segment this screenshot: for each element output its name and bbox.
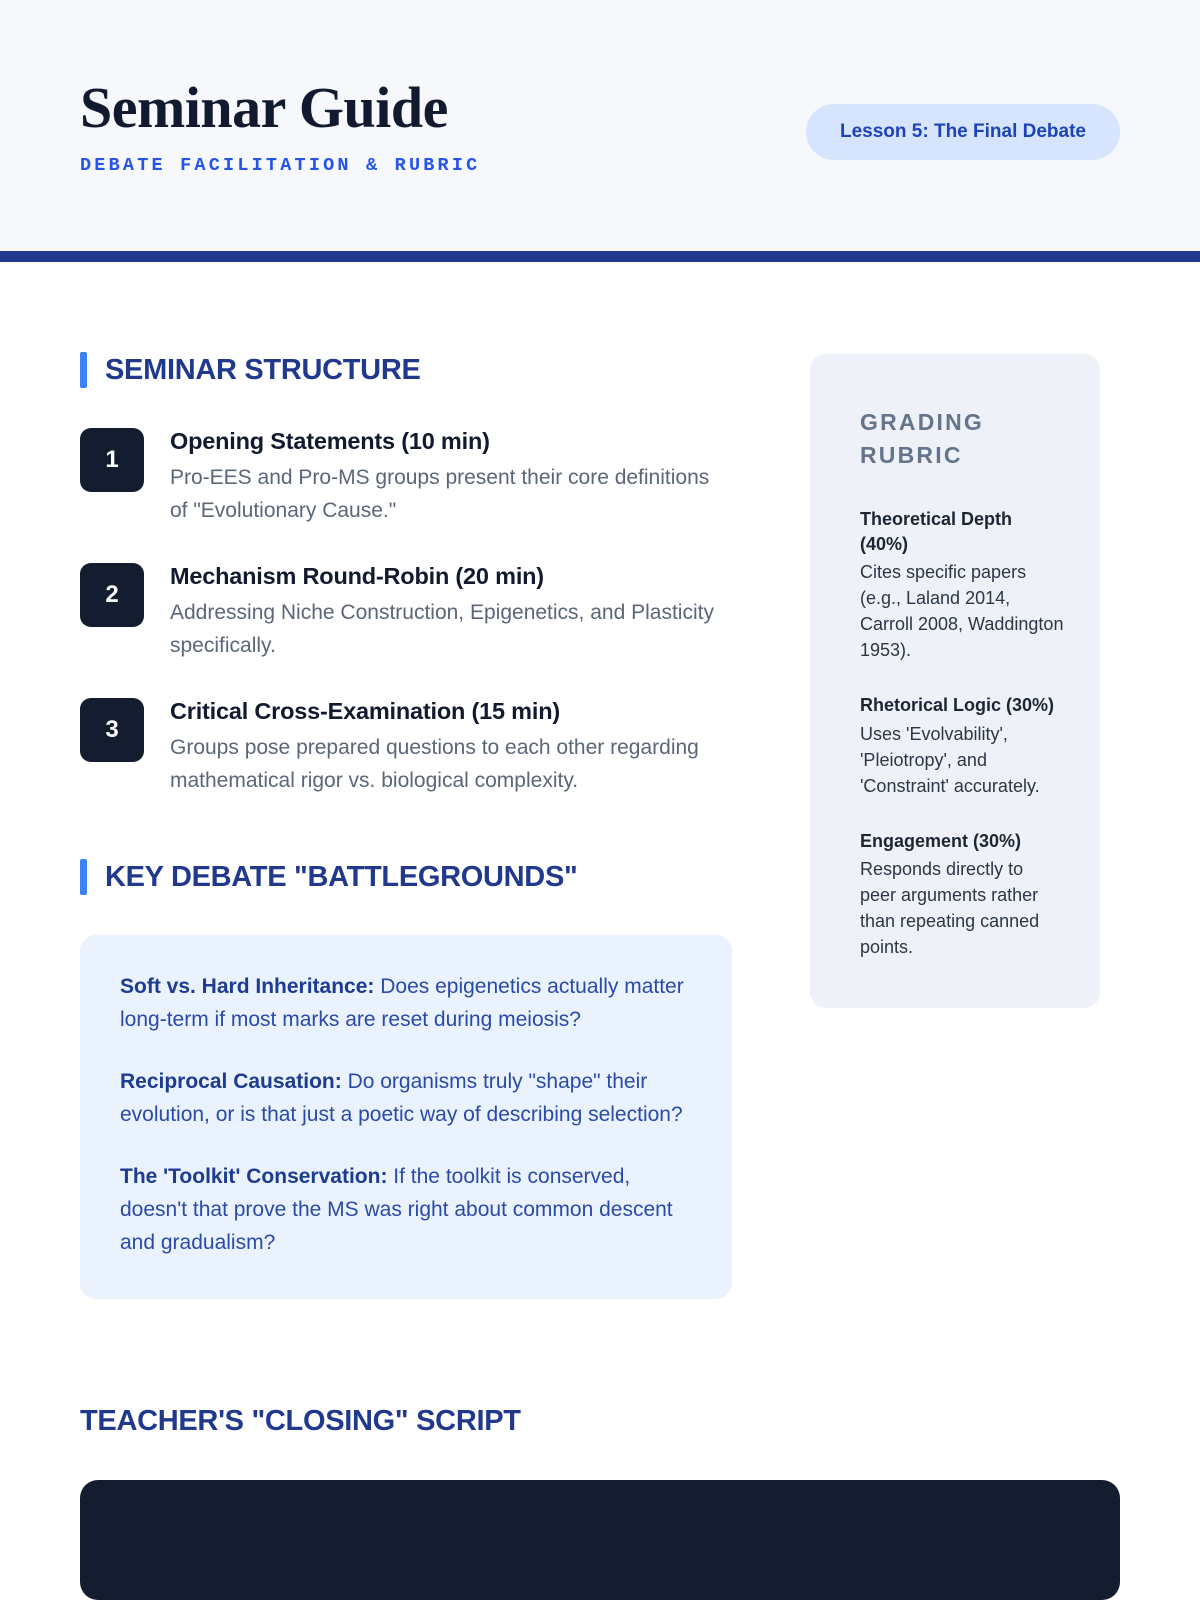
step-content: Mechanism Round-Robin (20 min) Addressin…: [170, 561, 732, 662]
rubric-criterion: Theoretical Depth (40%) Cites specific p…: [860, 507, 1064, 664]
step-description: Addressing Niche Construction, Epigeneti…: [170, 597, 732, 662]
page-header: Seminar Guide DEBATE FACILITATION & RUBR…: [0, 0, 1200, 262]
step-number-badge: 1: [80, 428, 144, 492]
step-description: Pro-EES and Pro-MS groups present their …: [170, 462, 732, 527]
battleground-item: Reciprocal Causation: Do organisms truly…: [120, 1066, 692, 1131]
list-item: 3 Critical Cross-Examination (15 min) Gr…: [80, 696, 732, 797]
page-body: SEMINAR STRUCTURE 1 Opening Statements (…: [0, 262, 1200, 1299]
rubric-criterion-name: Engagement (30%): [860, 829, 1064, 854]
page-title: Seminar Guide: [80, 78, 480, 139]
step-content: Opening Statements (10 min) Pro-EES and …: [170, 426, 732, 527]
step-description: Groups pose prepared questions to each o…: [170, 732, 732, 797]
battleground-label: Reciprocal Causation:: [120, 1070, 342, 1093]
rubric-criterion-desc: Cites specific papers (e.g., Laland 2014…: [860, 559, 1064, 663]
step-number-badge: 3: [80, 698, 144, 762]
rubric-criterion-name: Rhetorical Logic (30%): [860, 693, 1064, 718]
section-title-battlegrounds: KEY DEBATE "BATTLEGROUNDS": [105, 861, 577, 894]
rubric-criterion-name: Theoretical Depth (40%): [860, 507, 1064, 557]
header-title-group: Seminar Guide DEBATE FACILITATION & RUBR…: [80, 78, 480, 176]
sidebar-column: GRADING RUBRIC Theoretical Depth (40%) C…: [810, 262, 1100, 1299]
section-header-seminar-structure: SEMINAR STRUCTURE: [80, 352, 732, 388]
battleground-label: Soft vs. Hard Inheritance:: [120, 975, 374, 998]
section-accent-bar-icon: [80, 352, 87, 388]
rubric-heading: GRADING RUBRIC: [860, 406, 1064, 473]
rubric-criterion: Engagement (30%) Responds directly to pe…: [860, 829, 1064, 961]
section-header-battlegrounds: KEY DEBATE "BATTLEGROUNDS": [80, 859, 732, 895]
battleground-item: Soft vs. Hard Inheritance: Does epigenet…: [120, 971, 692, 1036]
lesson-badge: Lesson 5: The Final Debate: [806, 104, 1120, 160]
step-title: Mechanism Round-Robin (20 min): [170, 563, 732, 590]
step-number-badge: 2: [80, 563, 144, 627]
battleground-label: The 'Toolkit' Conservation:: [120, 1165, 387, 1188]
battleground-item: The 'Toolkit' Conservation: If the toolk…: [120, 1161, 692, 1259]
rubric-criterion-desc: Uses 'Evolvability', 'Pleiotropy', and '…: [860, 721, 1064, 799]
step-title: Opening Statements (10 min): [170, 428, 732, 455]
rubric-criterion-desc: Responds directly to peer arguments rath…: [860, 856, 1064, 960]
closing-script-section: TEACHER'S "CLOSING" SCRIPT: [0, 1405, 1200, 1600]
header-divider-rule: [0, 251, 1200, 262]
page-subtitle: DEBATE FACILITATION & RUBRIC: [80, 155, 480, 176]
list-item: 2 Mechanism Round-Robin (20 min) Address…: [80, 561, 732, 662]
section-accent-bar-icon: [80, 859, 87, 895]
section-title-seminar-structure: SEMINAR STRUCTURE: [105, 354, 421, 387]
section-title-closing-script: TEACHER'S "CLOSING" SCRIPT: [80, 1405, 1120, 1438]
main-column: SEMINAR STRUCTURE 1 Opening Statements (…: [80, 262, 732, 1299]
battlegrounds-card: Soft vs. Hard Inheritance: Does epigenet…: [80, 935, 732, 1299]
rubric-criterion: Rhetorical Logic (30%) Uses 'Evolvabilit…: [860, 693, 1064, 798]
list-item: 1 Opening Statements (10 min) Pro-EES an…: [80, 426, 732, 527]
step-title: Critical Cross-Examination (15 min): [170, 698, 732, 725]
step-content: Critical Cross-Examination (15 min) Grou…: [170, 696, 732, 797]
closing-script-card: [80, 1480, 1120, 1600]
grading-rubric-card: GRADING RUBRIC Theoretical Depth (40%) C…: [810, 354, 1100, 1008]
